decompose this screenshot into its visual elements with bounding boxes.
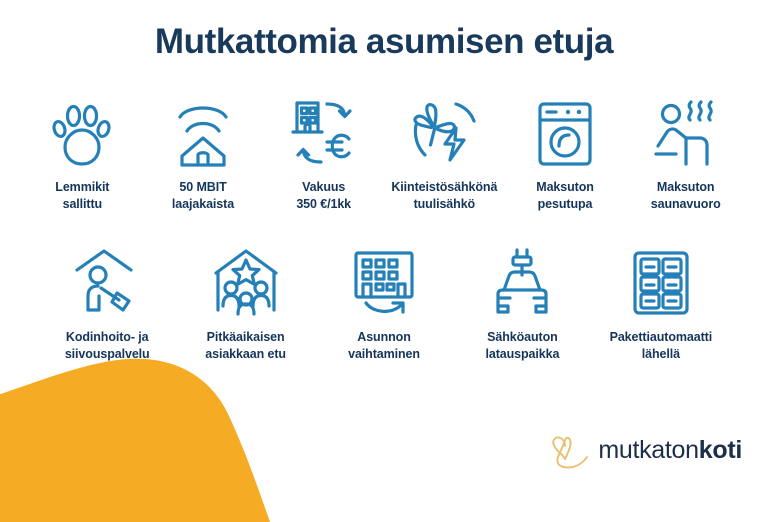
benefit-label-line1: Pitkäaikaisen xyxy=(205,329,286,346)
benefit-label: Maksuton pesutupa xyxy=(536,179,594,212)
benefit-label-line2: saunavuoro xyxy=(651,196,721,213)
washing-machine-icon xyxy=(535,92,595,168)
benefit-label-line1: 50 MBIT xyxy=(172,179,234,196)
benefit-label: Vakuus 350 €/1kk xyxy=(296,179,351,212)
benefit-item-ev-charging: Sähköauton latauspaikka xyxy=(453,240,591,362)
benefit-label: 50 MBIT laajakaista xyxy=(172,179,234,212)
benefits-row-2: Kodinhoito- ja siivouspalvelu xyxy=(0,240,768,362)
benefit-label-line2: lähellä xyxy=(610,346,713,363)
benefit-label: Lemmikit sallittu xyxy=(55,179,109,212)
benefit-item-broadband: 50 MBIT laajakaista xyxy=(143,92,264,212)
benefit-label-line2: latauspaikka xyxy=(486,346,560,363)
wind-turbine-bolt-icon xyxy=(409,92,479,168)
benefit-label: Pitkäaikaisen asiakkaan etu xyxy=(205,329,286,362)
benefit-label: Sähköauton latauspaikka xyxy=(486,329,560,362)
benefit-label-line2: sallittu xyxy=(55,196,109,213)
logo-wordmark: mutkatonkoti xyxy=(598,438,742,463)
cleaning-person-icon xyxy=(73,240,141,316)
benefit-item-loyalty: Pitkäaikaisen asiakkaan etu xyxy=(176,240,314,362)
benefit-label-line1: Pakettiautomaatti xyxy=(610,329,713,346)
benefit-label: Pakettiautomaatti lähellä xyxy=(610,329,713,362)
benefit-item-wind-power: Kiinteistösähkönä tuulisähkö xyxy=(384,92,505,212)
benefit-label-line2: laajakaista xyxy=(172,196,234,213)
benefit-label-line2: pesutupa xyxy=(536,196,594,213)
infographic-canvas: Mutkattomia asumisen etuja Lemmikit sall… xyxy=(0,0,768,512)
benefit-item-cleaning: Kodinhoito- ja siivouspalvelu xyxy=(38,240,176,362)
benefit-label-line1: Maksuton xyxy=(536,179,594,196)
benefit-label-line1: Lemmikit xyxy=(55,179,109,196)
benefit-item-deposit: Vakuus 350 €/1kk xyxy=(263,92,384,212)
benefit-item-parcel-locker: Pakettiautomaatti lähellä xyxy=(592,240,730,362)
benefits-row-1: Lemmikit sallittu 50 MBIT laajakaista xyxy=(0,92,768,212)
benefit-label-line2: tuulisähkö xyxy=(391,196,497,213)
paw-print-icon xyxy=(51,92,113,168)
benefit-label-line1: Maksuton xyxy=(651,179,721,196)
benefit-item-apartment-swap: Asunnon vaihtaminen xyxy=(315,240,453,362)
benefit-label-line2: siivouspalvelu xyxy=(65,346,150,363)
apartment-swap-icon xyxy=(352,240,416,316)
benefit-label: Asunnon vaihtaminen xyxy=(348,329,420,362)
benefit-item-sauna: Maksuton saunavuoro xyxy=(625,92,746,212)
benefit-item-laundry: Maksuton pesutupa xyxy=(505,92,626,212)
wifi-house-icon xyxy=(172,92,234,168)
benefit-label: Kodinhoito- ja siivouspalvelu xyxy=(65,329,150,362)
benefit-item-pets: Lemmikit sallittu xyxy=(22,92,143,212)
benefit-label-line1: Sähköauton xyxy=(486,329,560,346)
heart-swoosh-icon xyxy=(547,430,589,470)
building-euro-icon xyxy=(289,92,359,168)
page-title: Mutkattomia asumisen etuja xyxy=(0,22,768,62)
brand-logo: mutkatonkoti xyxy=(547,430,742,470)
benefit-label: Kiinteistösähkönä tuulisähkö xyxy=(391,179,497,212)
benefit-label-line1: Vakuus xyxy=(296,179,351,196)
orange-blob-decoration xyxy=(0,352,300,522)
benefit-label-line1: Kodinhoito- ja xyxy=(65,329,150,346)
logo-text-regular: mutkaton xyxy=(598,436,698,464)
logo-text-bold: koti xyxy=(699,436,742,464)
benefit-label-line2: asiakkaan etu xyxy=(205,346,286,363)
sauna-person-icon xyxy=(653,92,719,168)
benefit-label-line1: Asunnon xyxy=(348,329,420,346)
benefit-label: Maksuton saunavuoro xyxy=(651,179,721,212)
benefit-label-line1: Kiinteistösähkönä xyxy=(391,179,497,196)
benefit-label-line2: vaihtaminen xyxy=(348,346,420,363)
ev-charging-car-icon xyxy=(490,240,554,316)
parcel-locker-icon xyxy=(632,240,690,316)
benefit-label-line2: 350 €/1kk xyxy=(296,196,351,213)
family-star-house-icon xyxy=(213,240,279,316)
